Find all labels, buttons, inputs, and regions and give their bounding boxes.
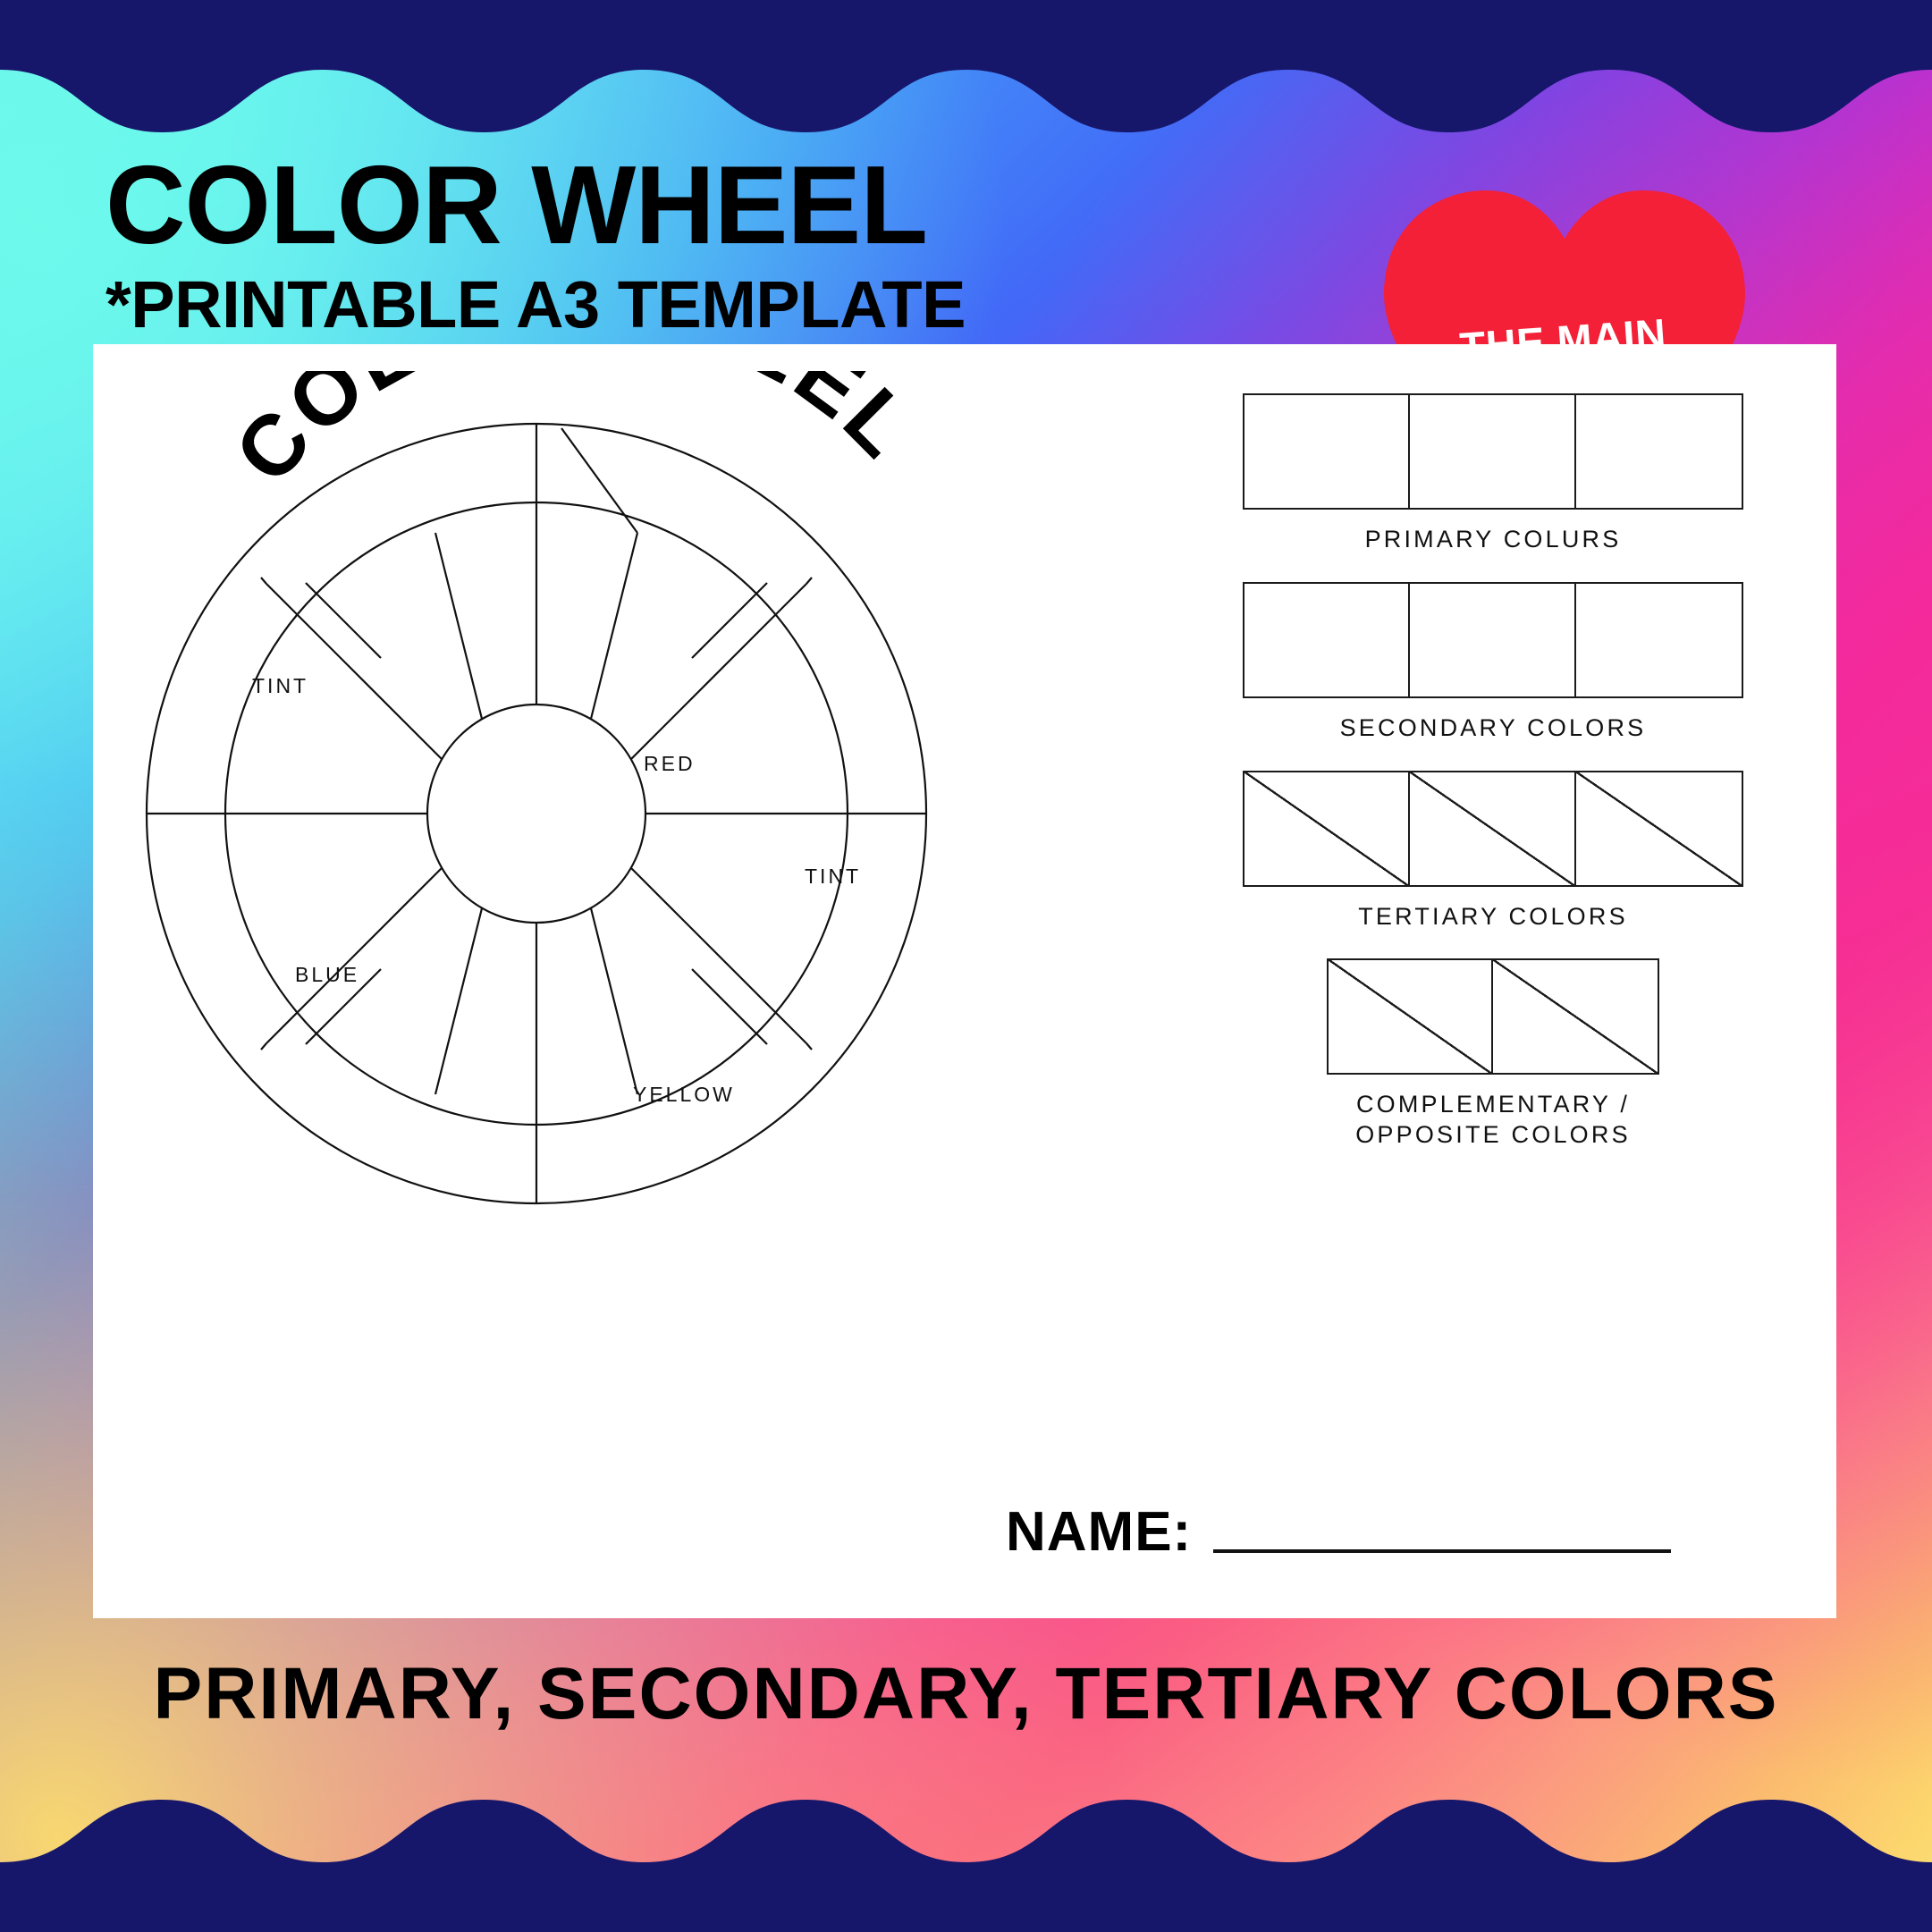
swatch-group-caption: COMPLEMENTARY / OPPOSITE COLORS bbox=[1193, 1090, 1793, 1151]
color-wheel-svg: TINT RED TINT BLUE YELLOW TINT bbox=[143, 420, 930, 1207]
swatch-cell-split[interactable] bbox=[1493, 958, 1659, 1075]
poster-heading: COLOR WHEEL *PRINTABLE A3 TEMPLATE bbox=[105, 150, 1384, 340]
name-field-row: NAME: bbox=[1006, 1500, 1671, 1564]
swatch-cell[interactable] bbox=[1576, 393, 1743, 510]
wheel-label-tint-upper-left: TINT bbox=[252, 674, 308, 697]
page-title: COLOR WHEEL bbox=[105, 150, 1384, 261]
swatch-group-tertiary: TERTIARY COLORS bbox=[1243, 771, 1743, 932]
swatch-row bbox=[1243, 393, 1743, 510]
swatch-row bbox=[1327, 958, 1660, 1075]
swatch-group-caption: PRIMARY COLURS bbox=[1243, 525, 1743, 555]
swatch-group-complementary: COMPLEMENTARY / OPPOSITE COLORS bbox=[1327, 958, 1660, 1151]
color-wheel-diagram: TINT RED TINT BLUE YELLOW TINT bbox=[143, 420, 930, 1207]
name-field-label: NAME: bbox=[1006, 1500, 1192, 1564]
swatch-row bbox=[1243, 582, 1743, 698]
wheel-label-blue: BLUE bbox=[295, 963, 359, 986]
wave-band-top bbox=[0, 0, 1932, 156]
wheel-label-yellow: YELLOW bbox=[633, 1083, 735, 1106]
swatch-cell[interactable] bbox=[1243, 393, 1410, 510]
wheel-hub bbox=[427, 704, 645, 923]
swatch-group-caption: SECONDARY COLORS bbox=[1243, 713, 1743, 744]
swatch-cell[interactable] bbox=[1410, 393, 1577, 510]
swatch-group-caption: TERTIARY COLORS bbox=[1243, 902, 1743, 932]
page-subtitle: *PRINTABLE A3 TEMPLATE bbox=[105, 270, 1384, 340]
footer-caption: PRIMARY, SECONDARY, TERTIARY COLORS bbox=[0, 1652, 1932, 1736]
swatch-cell-split[interactable] bbox=[1576, 771, 1743, 887]
swatch-cell[interactable] bbox=[1576, 582, 1743, 698]
name-field-input[interactable] bbox=[1213, 1549, 1671, 1553]
swatch-group-primary: PRIMARY COLURS bbox=[1243, 393, 1743, 555]
footer-caption-text: PRIMARY, SECONDARY, TERTIARY COLORS bbox=[154, 1653, 1779, 1734]
swatch-row bbox=[1243, 771, 1743, 887]
swatch-cell[interactable] bbox=[1243, 582, 1410, 698]
swatch-cell[interactable] bbox=[1410, 582, 1577, 698]
wheel-label-red: RED bbox=[644, 752, 696, 775]
swatch-cell-split[interactable] bbox=[1243, 771, 1410, 887]
swatch-column: PRIMARY COLURS SECONDARY COLORS TERTIARY… bbox=[1243, 393, 1743, 1177]
swatch-group-secondary: SECONDARY COLORS bbox=[1243, 582, 1743, 744]
wheel-label-tint-right: TINT bbox=[805, 865, 861, 888]
poster-canvas: COLOR WHEEL *PRINTABLE A3 TEMPLATE THE M… bbox=[0, 0, 1932, 1932]
swatch-cell-split[interactable] bbox=[1327, 958, 1493, 1075]
swatch-cell-split[interactable] bbox=[1410, 771, 1577, 887]
wave-band-bottom bbox=[0, 1776, 1932, 1932]
